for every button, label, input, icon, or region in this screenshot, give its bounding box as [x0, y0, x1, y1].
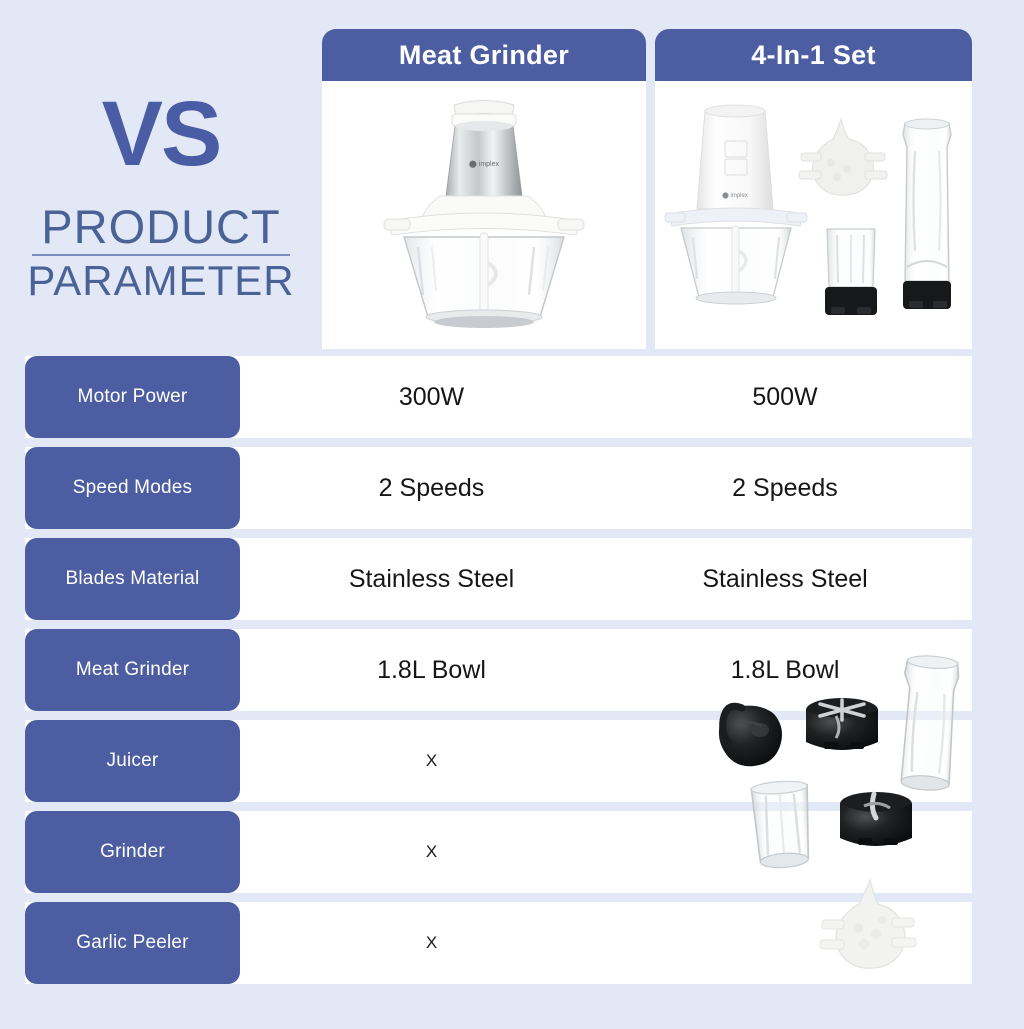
four-in-one-set-illustration: ⬤ implex: [655, 81, 972, 349]
cell-blades-material-meat-grinder: Stainless Steel: [265, 538, 598, 620]
table-row: Speed Modes 2 Speeds 2 Speeds: [25, 447, 972, 529]
cell-juicer-meat-grinder: X: [265, 720, 598, 802]
column-header-four-in-one[interactable]: 4-In-1 Set: [655, 29, 972, 81]
cell-juicer-four-in-one: [598, 720, 972, 802]
table-row: Juicer X: [25, 720, 972, 802]
row-label-grinder: Grinder: [25, 811, 240, 893]
cell-blades-material-four-in-one: Stainless Steel: [598, 538, 972, 620]
product-heading: PRODUCT: [0, 202, 322, 251]
row-label-juicer: Juicer: [25, 720, 240, 802]
vs-heading: VS: [0, 88, 322, 180]
four-in-one-set-photo: ⬤ implex: [655, 81, 972, 349]
cell-grinder-four-in-one: [598, 811, 972, 893]
cell-speed-modes-meat-grinder: 2 Speeds: [265, 447, 598, 529]
table-row: Blades Material Stainless Steel Stainles…: [25, 538, 972, 620]
meat-grinder-photo: ⬤ implex: [322, 81, 646, 349]
row-label-blades-material: Blades Material: [25, 538, 240, 620]
svg-text:⬤ implex: ⬤ implex: [722, 192, 748, 199]
cell-grinder-meat-grinder: X: [265, 811, 598, 893]
cell-motor-power-meat-grinder: 300W: [265, 356, 598, 438]
column-header-meat-grinder[interactable]: Meat Grinder: [322, 29, 646, 81]
cell-garlic-peeler-four-in-one: [598, 902, 972, 984]
title-divider: [32, 254, 290, 256]
product-column-four-in-one: 4-In-1 Set: [655, 29, 972, 349]
parameter-heading: PARAMETER: [0, 258, 322, 304]
table-row: Grinder X: [25, 811, 972, 893]
row-label-motor-power: Motor Power: [25, 356, 240, 438]
comparison-table: Motor Power 300W 500W Speed Modes 2 Spee…: [25, 356, 972, 993]
cell-meat-grinder-meat-grinder: 1.8L Bowl: [265, 629, 598, 711]
cell-motor-power-four-in-one: 500W: [598, 356, 972, 438]
meat-grinder-illustration: ⬤ implex: [322, 81, 646, 349]
product-column-meat-grinder: Meat Grinder: [322, 29, 646, 349]
title-block: VS PRODUCT PARAMETER: [0, 88, 322, 305]
row-label-speed-modes: Speed Modes: [25, 447, 240, 529]
svg-text:⬤ implex: ⬤ implex: [469, 160, 500, 168]
cell-garlic-peeler-meat-grinder: X: [265, 902, 598, 984]
row-label-meat-grinder: Meat Grinder: [25, 629, 240, 711]
table-row: Garlic Peeler X: [25, 902, 972, 984]
row-label-garlic-peeler: Garlic Peeler: [25, 902, 240, 984]
cell-speed-modes-four-in-one: 2 Speeds: [598, 447, 972, 529]
table-row: Meat Grinder 1.8L Bowl 1.8L Bowl: [25, 629, 972, 711]
table-row: Motor Power 300W 500W: [25, 356, 972, 438]
cell-meat-grinder-four-in-one: 1.8L Bowl: [598, 629, 972, 711]
